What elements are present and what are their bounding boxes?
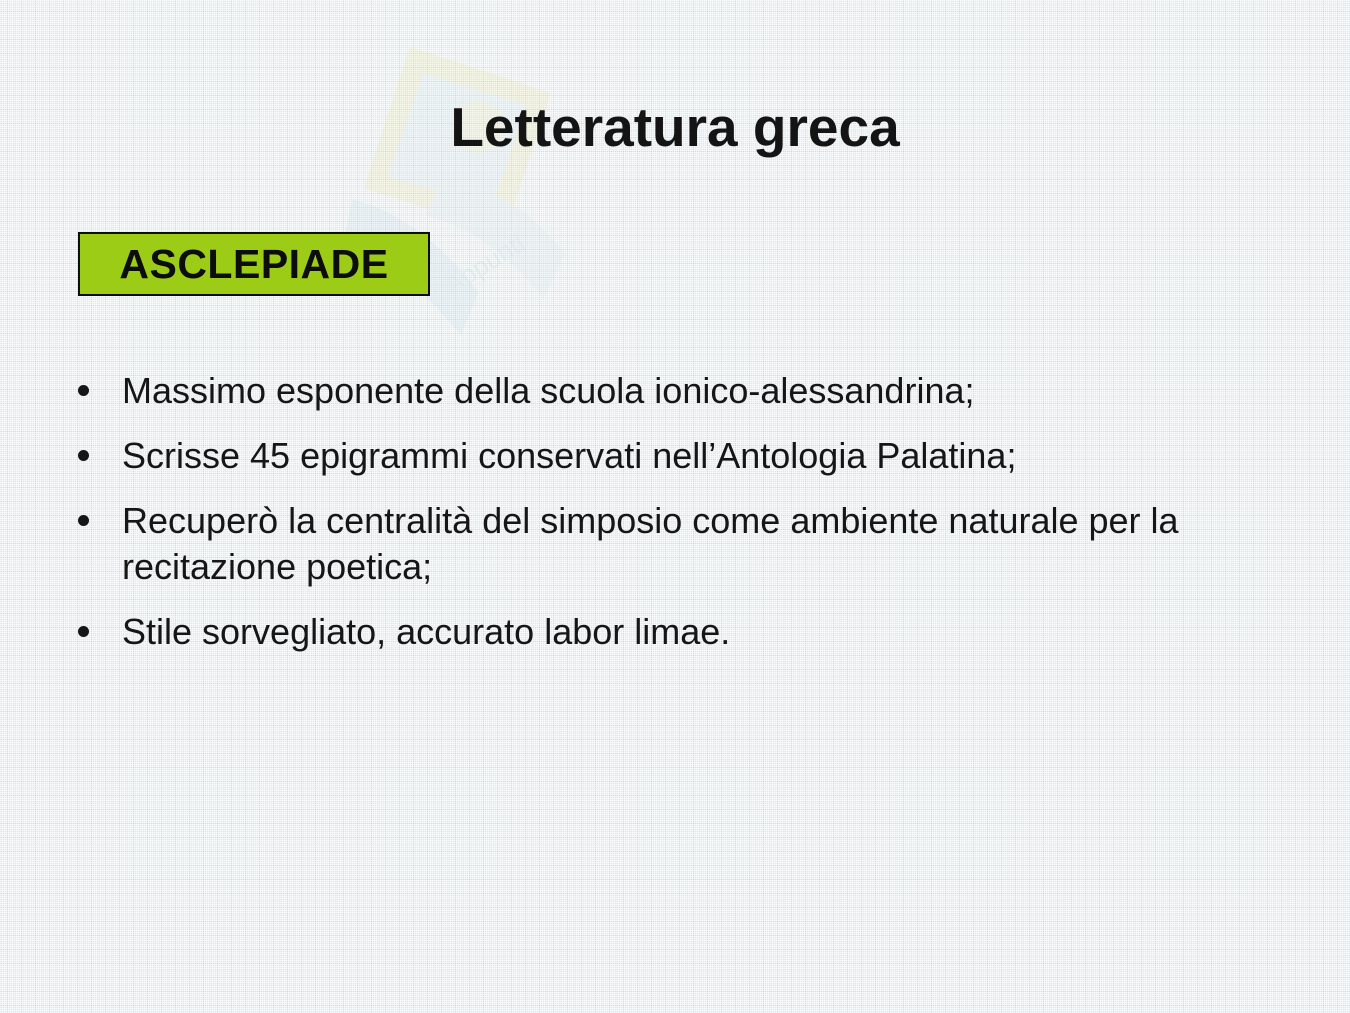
bullet-list: Massimo esponente della scuola ionico-al… bbox=[70, 368, 1250, 674]
page-title: Letteratura greca bbox=[0, 99, 1350, 157]
presentation-slide: Appunti Letteratura greca ASCLEPIADE Mas… bbox=[0, 0, 1350, 1013]
list-item: Scrisse 45 epigrammi conservati nell’Ant… bbox=[70, 433, 1250, 480]
bullet-dot-icon bbox=[78, 450, 89, 461]
bullet-dot-icon bbox=[78, 626, 89, 637]
list-item-text: Scrisse 45 epigrammi conservati nell’Ant… bbox=[122, 435, 1016, 476]
svg-text:Appunti: Appunti bbox=[439, 228, 530, 300]
asclepiade-heading-box: ASCLEPIADE bbox=[78, 232, 430, 296]
watermark-logo-icon: Appunti bbox=[245, 0, 716, 414]
bullet-dot-icon bbox=[78, 515, 89, 526]
list-item-text: Recuperò la centralità del simposio come… bbox=[122, 500, 1179, 588]
bullet-dot-icon bbox=[78, 385, 89, 396]
list-item: Recuperò la centralità del simposio come… bbox=[70, 498, 1250, 592]
list-item-text: Massimo esponente della scuola ionico-al… bbox=[122, 370, 975, 411]
list-item-text: Stile sorvegliato, accurato labor limae. bbox=[122, 611, 730, 652]
list-item: Massimo esponente della scuola ionico-al… bbox=[70, 368, 1250, 415]
list-item: Stile sorvegliato, accurato labor limae. bbox=[70, 609, 1250, 656]
asclepiade-heading-label: ASCLEPIADE bbox=[119, 241, 388, 288]
